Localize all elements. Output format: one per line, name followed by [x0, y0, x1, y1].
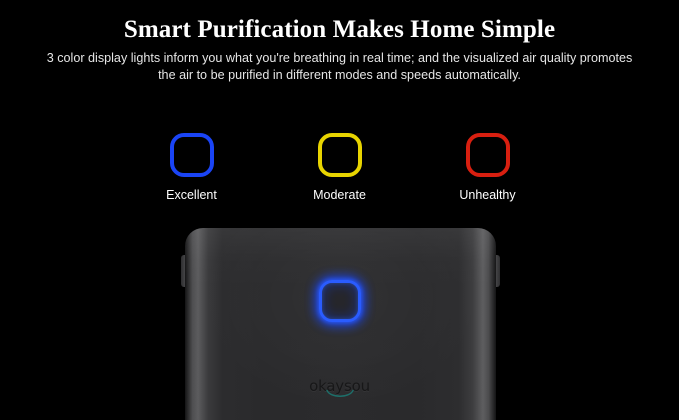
- legend-item-moderate: Moderate: [292, 133, 388, 203]
- promo-banner: Smart Purification Makes Home Simple 3 c…: [0, 0, 679, 420]
- page-title: Smart Purification Makes Home Simple: [0, 0, 679, 45]
- legend-item-excellent: Excellent: [144, 133, 240, 203]
- brand-swoosh-icon: [325, 389, 355, 401]
- rounded-square-outline-icon-moderate: [318, 133, 362, 177]
- rounded-square-outline-icon-unhealthy: [466, 133, 510, 177]
- indicator-ring: [319, 280, 361, 322]
- legend-item-unhealthy: Unhealthy: [440, 133, 536, 203]
- air-quality-legend: Excellent Moderate Unhealthy: [0, 133, 679, 203]
- legend-label-unhealthy: Unhealthy: [459, 188, 515, 203]
- page-subtitle-line-2: the air to be purified in different mode…: [0, 67, 679, 84]
- rounded-square-outline-icon-excellent: [170, 133, 214, 177]
- legend-label-moderate: Moderate: [313, 188, 366, 203]
- page-subtitle-line-1: 3 color display lights inform you what y…: [0, 50, 679, 67]
- brand-logo: okaysou: [280, 378, 400, 404]
- header-block: Smart Purification Makes Home Simple 3 c…: [0, 0, 679, 84]
- page-subtitle: 3 color display lights inform you what y…: [0, 45, 679, 84]
- legend-label-excellent: Excellent: [166, 188, 217, 203]
- glowing-rounded-square-indicator-icon[interactable]: [311, 272, 369, 330]
